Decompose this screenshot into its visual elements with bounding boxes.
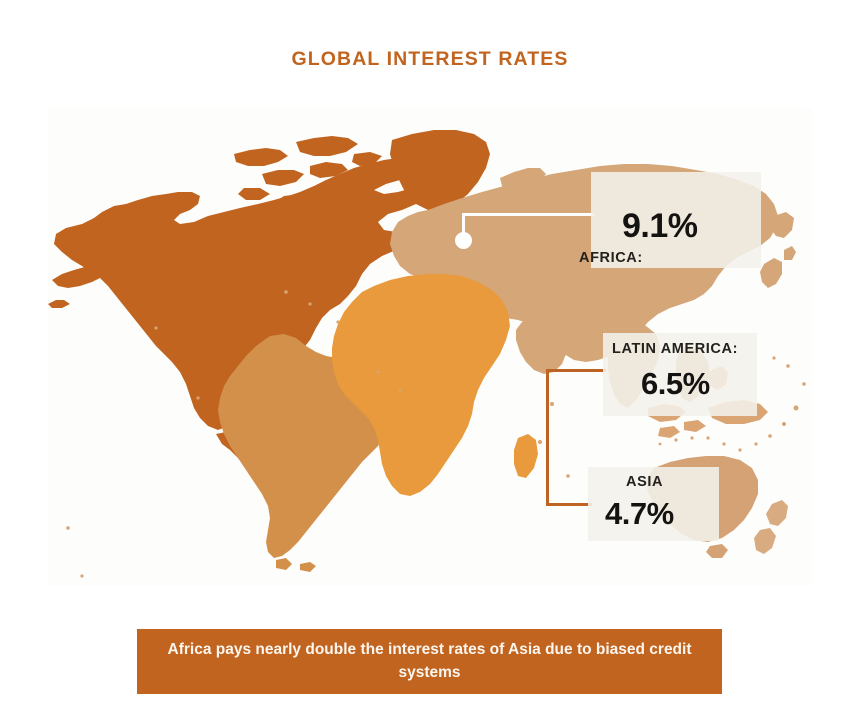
africa-leader-stem (462, 213, 465, 237)
asia-leader-arm (546, 503, 592, 506)
infographic-canvas: GLOBAL INTEREST RATES (0, 0, 860, 721)
africa-leader-arm (462, 213, 594, 216)
summary-banner-text: Africa pays nearly double the interest r… (159, 639, 700, 684)
callout-label-asia: ASIA (626, 474, 663, 490)
callout-value-latin-america: 6.5% (641, 366, 710, 402)
callout-value-asia: 4.7% (605, 496, 674, 532)
callout-value-africa: 9.1% (622, 207, 698, 246)
latam-asia-leader-stem (546, 369, 549, 506)
latam-leader-arm (546, 369, 606, 372)
callout-label-africa: AFRICA: (579, 250, 643, 266)
page-title: GLOBAL INTEREST RATES (0, 48, 860, 71)
world-map-panel: 9.1% AFRICA: LATIN AMERICA: 6.5% ASIA 4.… (48, 108, 812, 586)
callout-label-latin-america: LATIN AMERICA: (612, 341, 738, 357)
summary-banner: Africa pays nearly double the interest r… (137, 629, 722, 694)
